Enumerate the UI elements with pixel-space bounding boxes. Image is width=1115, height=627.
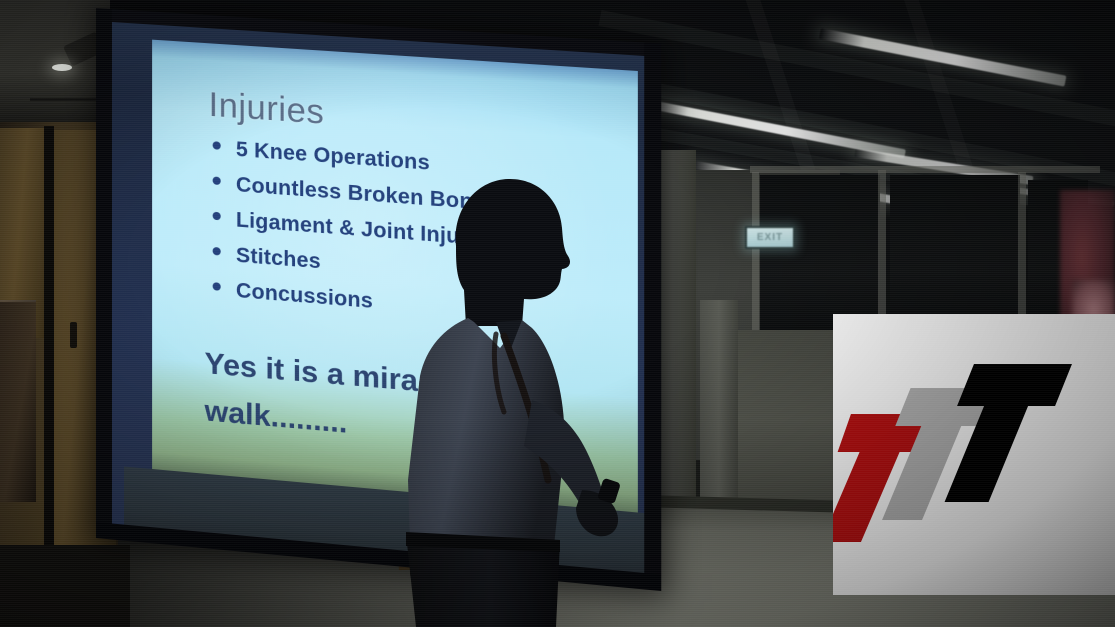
left-furniture-box (0, 300, 36, 502)
upper-wall-panel (0, 0, 110, 122)
bullet-dot-icon (213, 176, 221, 185)
window-mullion (752, 172, 759, 342)
screen-bezel-right (644, 43, 661, 592)
bullet-dot-icon (213, 141, 221, 150)
bullet-text: 5 Knee Operations (236, 138, 430, 176)
glass-partition (890, 175, 1020, 335)
bullet-dot-icon (213, 247, 221, 256)
projection-screen: Injuries 5 Knee Operations Countless Bro… (96, 8, 661, 591)
window-frame-top (750, 166, 1100, 173)
bullet-text: Concussions (236, 279, 373, 314)
logo-letter-t-black (944, 364, 1072, 502)
presentation-slide: Injuries 5 Knee Operations Countless Bro… (152, 40, 638, 513)
ttt-logo (833, 314, 1115, 595)
window-mullion (1018, 172, 1026, 337)
slide-closing-text: Yes it is a miracle th walk......... (205, 341, 500, 460)
floor-dark-left (0, 545, 130, 627)
exit-sign: EXIT (745, 226, 795, 249)
cabinet-handle (70, 322, 77, 348)
bullet-text: Stitches (236, 244, 321, 275)
screenshot-root: EXIT Injuries 5 Knee Ope (0, 0, 1115, 627)
bullet-dot-icon (213, 212, 221, 221)
bullet-dot-icon (213, 282, 221, 291)
corridor-column (700, 300, 738, 530)
slide-bullet-list: 5 Knee Operations Countless Broken Bones… (213, 136, 500, 335)
slide-title: Injuries (209, 86, 325, 133)
bullet-text: Countless Broken Bones (236, 173, 498, 216)
projection-screen-surface: Injuries 5 Knee Operations Countless Bro… (110, 21, 646, 577)
exit-sign-label: EXIT (757, 232, 783, 243)
recessed-spotlight (52, 64, 72, 71)
screen-bezel-left (96, 8, 112, 540)
cabinet-door-gap (44, 126, 54, 556)
